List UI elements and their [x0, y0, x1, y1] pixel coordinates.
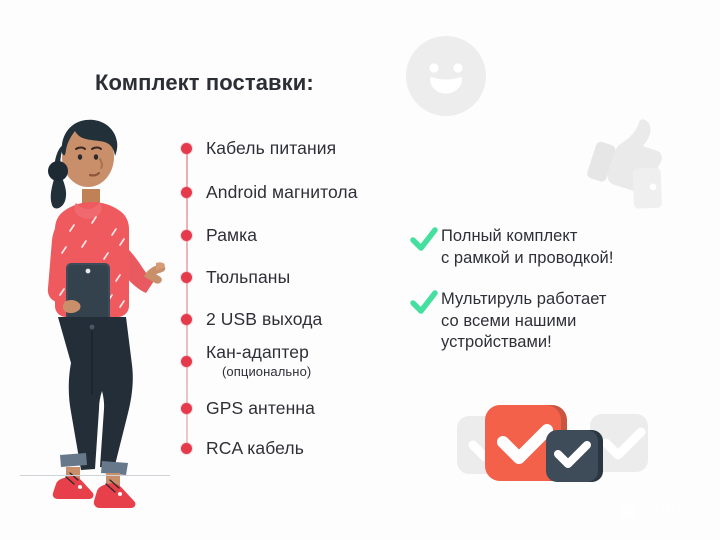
bullet-dot-icon — [181, 443, 192, 454]
list-item-note: (опционально) — [222, 364, 311, 379]
avito-logo-icon — [620, 501, 638, 519]
list-item-label: Кан-адаптер — [206, 342, 309, 362]
checkbox-group-icon — [455, 398, 650, 493]
list-item: Кабель питания — [176, 138, 336, 159]
highlight-row: Мультируль работает со всеми нашими устр… — [410, 289, 710, 354]
check-mark-icon — [410, 290, 438, 316]
list-item: Кан-адаптер (опционально) — [176, 342, 311, 381]
list-item: Рамка — [176, 225, 257, 246]
avito-watermark: Avito — [620, 500, 689, 520]
bullet-dot-icon — [181, 314, 192, 325]
list-item-label: Кабель питания — [206, 138, 336, 158]
check-mark-icon — [410, 227, 438, 253]
bullet-dot-icon — [181, 230, 192, 241]
highlight-text: Мультируль работает со всеми нашими устр… — [441, 289, 607, 354]
bullet-dot-icon — [181, 356, 192, 367]
ground-line — [20, 475, 170, 476]
list-item: Тюльпаны — [176, 267, 290, 288]
bullet-dot-icon — [181, 143, 192, 154]
highlight-line-3: устройствами! — [441, 333, 552, 351]
highlight-line-2: с рамкой и проводкой! — [441, 249, 613, 267]
list-item-label: 2 USB выхода — [206, 309, 322, 329]
list-item: Android магнитола — [176, 182, 358, 203]
highlight-line-1: Полный комплект — [441, 227, 577, 245]
highlight-line-2: со всеми нашими — [441, 312, 576, 330]
list-item-label: GPS антенна — [206, 398, 315, 418]
list-item: GPS антенна — [176, 398, 315, 419]
bullet-dot-icon — [181, 272, 192, 283]
list-item: RCA кабель — [176, 438, 304, 459]
thumbs-up-icon — [576, 112, 686, 216]
page-title: Комплект поставки: — [95, 70, 314, 96]
list-item-label: Рамка — [206, 225, 257, 245]
bullet-dot-icon — [181, 403, 192, 414]
highlight-row: Полный комплект с рамкой и проводкой! — [410, 226, 710, 269]
woman-with-tablet-illustration — [8, 95, 178, 515]
delivery-set-list: Кабель питания Android магнитола Рамка Т… — [176, 130, 426, 460]
avito-wordmark: Avito — [641, 500, 689, 520]
list-item-label: Android магнитола — [206, 182, 358, 202]
highlights-section: Полный комплект с рамкой и проводкой! Му… — [410, 226, 710, 368]
bullet-dot-icon — [181, 187, 192, 198]
list-item-label: Тюльпаны — [206, 267, 290, 287]
highlight-text: Полный комплект с рамкой и проводкой! — [441, 226, 613, 269]
list-item-label: RCA кабель — [206, 438, 304, 458]
promo-banner: Комплект поставки: Кабель питания Androi… — [0, 0, 720, 540]
list-item: 2 USB выхода — [176, 309, 322, 330]
highlight-line-1: Мультируль работает — [441, 290, 607, 308]
smiley-face-icon — [404, 34, 488, 118]
